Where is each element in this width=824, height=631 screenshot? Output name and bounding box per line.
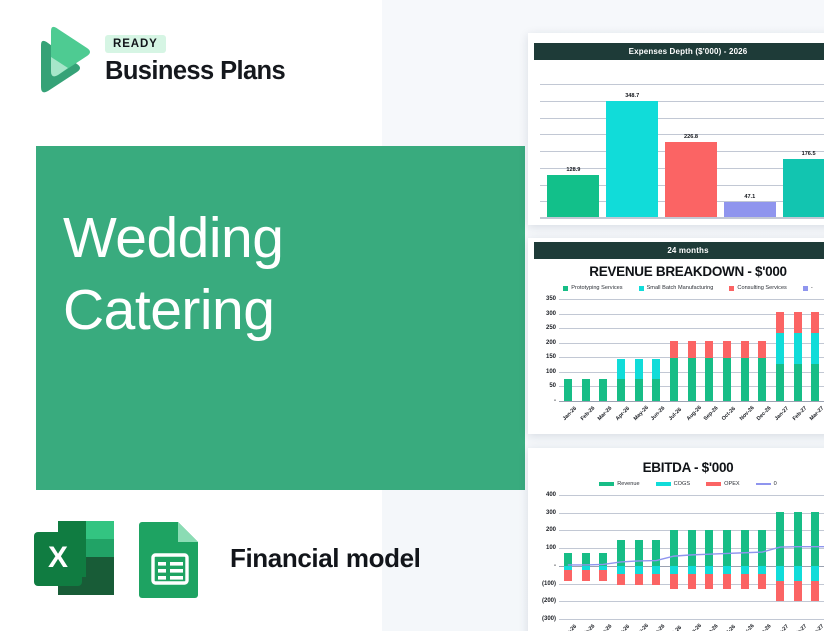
y-tick-label: 250 [546,325,556,331]
x-tick-label: Feb-26 [579,623,596,631]
x-tick-label: Oct-26 [721,406,737,422]
legend-swatch [599,482,614,486]
brand-text: READY Business Plans [105,35,285,85]
bar-segment [776,581,784,600]
x-tick-label: Mar-27 [809,405,824,422]
x-tick-label: Jan-26 [562,624,578,631]
stacked-bar-column [741,295,749,379]
bar-segment [617,379,625,401]
bar-segment [794,581,802,600]
revenue-legend: Prototyping ServicesSmall Batch Manufact… [528,285,824,291]
x-tick-label: Jun-26 [650,623,667,631]
bar [606,101,658,218]
bar-segment [670,574,678,588]
bar-segment [811,512,819,566]
legend-item: Consulting Services [729,285,786,291]
bar-segment [617,359,625,379]
google-sheets-icon [134,519,206,598]
bar-segment [776,512,784,566]
page-title: Wedding Catering [63,202,503,347]
stacked-bar-column [776,295,784,379]
bar-segment [776,333,784,364]
y-tick-label: 200 [546,340,556,346]
bar-value-label: 47.1 [744,194,755,200]
stacked-bar-column [723,295,731,379]
bar-segment [564,570,572,581]
stacked-bar-column [670,295,678,379]
bar-segment [564,379,572,401]
footer-label: Financial model [230,543,421,574]
bar-column: 176.5 [783,84,824,218]
stacked-bar-column [652,295,660,379]
legend-item: Small Batch Manufacturing [639,285,714,291]
bar-segment [723,566,731,575]
stacked-bar-column [723,491,731,597]
bar-segment [811,581,819,600]
bar-segment [811,364,819,401]
legend-swatch [756,483,771,485]
stacked-bar-column [794,491,802,597]
bar-segment [741,358,749,401]
bar-segment [635,566,643,574]
y-tick-label: (300) [542,616,556,622]
brand-lockup: READY Business Plans [31,25,285,95]
stacked-bar-column [617,491,625,597]
bar-segment [670,530,678,566]
bar-segment [723,574,731,588]
bar-segment [705,341,713,358]
stacked-bar-column [670,491,678,597]
stacked-bar-column [811,491,819,597]
legend-item: 0 [756,481,777,487]
bar-segment [652,359,660,379]
stacked-bar-column [564,295,572,379]
stacked-bar-column [811,295,819,379]
bar-value-label: 128.9 [566,167,580,173]
x-tick-label: Oct-26 [721,624,737,631]
bar-column: 128.9 [547,84,599,218]
bar-segment [635,359,643,379]
ready-badge: READY [105,35,166,53]
bar-segment [688,566,696,575]
y-tick-label: 50 [549,383,556,389]
bar-segment [705,566,713,575]
bar-segment [617,540,625,566]
expenses-chart-header: Expenses Depth ($'000) - 2026 [534,43,824,60]
x-tick-label: Aug-26 [685,623,702,631]
stacked-bar-column [617,295,625,379]
bar-segment [599,553,607,566]
chart-card-expenses: Expenses Depth ($'000) - 2026 128.9348.7… [528,33,824,225]
ebitda-stacked-plot: 400300200100-(100)(200)(300) Jan-26Feb-2… [532,491,824,631]
bar-column: 47.1 [724,84,776,218]
expenses-axis-line [540,217,824,218]
x-tick-label: May-26 [632,623,649,631]
bar-segment [758,341,766,358]
x-tick-label: Sep-26 [703,623,720,631]
x-tick-label: Dec-26 [756,405,773,422]
bar-segment [776,364,784,401]
x-tick-label: Jan-27 [774,624,790,631]
x-tick-label: Mar-26 [597,623,614,631]
brand-name: Business Plans [105,58,285,85]
x-tick-label: Feb-26 [579,405,596,422]
y-tick-label: (200) [542,598,556,604]
x-tick-label: Jul-26 [668,625,683,631]
ebitda-x-axis: Jan-26Feb-26Mar-26Apr-26May-26Jun-26Jul-… [559,619,824,631]
x-tick-label: Dec-26 [756,623,773,631]
y-tick-label: (100) [542,581,556,587]
bar-segment [794,512,802,566]
legend-swatch [563,286,568,291]
y-tick-label: - [554,563,556,569]
legend-swatch [639,286,644,291]
x-tick-label: Aug-26 [685,405,702,422]
bar-segment [741,566,749,575]
x-tick-label: Jul-26 [668,407,683,422]
bar-segment [723,358,731,401]
bar-segment [811,566,819,582]
revenue-chart-title: REVENUE BREAKDOWN - $'000 [528,264,824,279]
chart-card-ebitda: EBITDA - $'000 RevenueCOGSOPEX0 40030020… [528,448,824,631]
bar-value-label: 226.8 [684,134,698,140]
bar-segment [741,341,749,358]
bar-segment [652,379,660,401]
bar-segment [723,530,731,566]
bar-segment [617,566,625,574]
bar-segment [794,566,802,582]
bar-segment [599,570,607,581]
bar-segment [635,540,643,566]
stacked-bar-column [635,295,643,379]
stacked-bar-column [758,491,766,597]
bar-segment [758,574,766,588]
bar-segment [741,530,749,566]
stacked-bar-column [688,491,696,597]
y-tick-label: 100 [546,545,556,551]
bar-segment [652,540,660,566]
bar-segment [652,574,660,585]
x-tick-label: May-26 [632,405,649,422]
bar-segment [635,379,643,401]
y-tick-label: 300 [546,311,556,317]
bar-segment [811,333,819,364]
y-tick-label: 150 [546,354,556,360]
bar-segment [705,530,713,566]
bar-segment [794,364,802,401]
bar-segment [617,574,625,585]
legend-label: OPEX [724,481,740,487]
bar [724,202,776,218]
revenue-stacked-plot: 35030025020015010050- Jan-26Feb-26Mar-26… [532,295,824,423]
expenses-bar-plot: 128.9348.7226.847.1176.5 [534,70,824,224]
stacked-bar-column [688,295,696,379]
revenue-y-axis: 35030025020015010050- [532,295,558,423]
ebitda-chart-title: EBITDA - $'000 [528,460,824,475]
legend-label: - [811,285,813,291]
ebitda-bar-area [559,491,824,619]
legend-swatch [803,286,808,291]
stacked-bar-column [582,491,590,597]
ebitda-y-axis: 400300200100-(100)(200)(300) [532,491,558,631]
y-tick-label: 100 [546,369,556,375]
x-tick-label: Mar-26 [597,405,614,422]
legend-swatch [729,286,734,291]
bar-segment [582,379,590,401]
bar-segment [705,358,713,401]
bar-segment [670,341,678,358]
legend-swatch [706,482,721,486]
legend-item: Revenue [599,481,639,487]
poster-canvas: READY Business Plans Wedding Catering X [0,0,824,631]
excel-file-icon: X [32,519,116,598]
bar-value-label: 176.5 [802,151,816,157]
chart-card-revenue: 24 months REVENUE BREAKDOWN - $'000 Prot… [528,238,824,434]
bar-segment [758,530,766,566]
bar-segment [776,312,784,333]
bar-segment [688,341,696,358]
stacked-bar-column [564,491,572,597]
x-tick-label: Nov-26 [738,405,755,422]
gridline [540,218,824,219]
stacked-bar-column [741,491,749,597]
stacked-bar-column [582,295,590,379]
bar-segment [776,566,784,582]
legend-item: Prototyping Services [563,285,622,291]
y-tick-label: - [554,398,556,404]
svg-text:X: X [48,541,68,574]
x-tick-label: Jan-26 [562,406,578,422]
bar-segment [723,341,731,358]
legend-item: OPEX [706,481,740,487]
x-tick-label: Apr-26 [615,624,631,631]
stacked-bar-column [776,491,784,597]
bar-segment [688,530,696,566]
bar-column: 348.7 [606,84,658,218]
x-tick-label: Sep-26 [703,405,720,422]
bar-segment [652,566,660,574]
bar-column: 226.8 [665,84,717,218]
footer-row: X Financial model [32,519,421,598]
bar-segment [758,358,766,401]
expenses-bars: 128.9348.7226.847.1176.5 [544,84,824,218]
x-tick-label: Apr-26 [615,406,631,422]
y-tick-label: 350 [546,296,556,302]
x-tick-label: Feb-27 [792,623,809,631]
bar-segment [599,379,607,401]
x-tick-label: Nov-26 [738,623,755,631]
bar-segment [582,553,590,566]
bar [665,142,717,218]
bar-segment [670,566,678,575]
bar-segment [582,570,590,581]
y-tick-label: 400 [546,492,556,498]
stacked-bar-column [794,295,802,379]
revenue-bar-area [559,295,824,401]
stacked-bar-column [705,491,713,597]
stacked-bar-column [652,491,660,597]
bar-segment [794,312,802,333]
bar-segment [705,574,713,588]
legend-item: - [803,285,813,291]
bar-segment [670,358,678,401]
legend-label: Consulting Services [737,285,786,291]
legend-label: 0 [774,481,777,487]
stacked-bar-column [599,491,607,597]
stacked-bar-column [635,491,643,597]
bar-segment [758,566,766,575]
x-tick-label: Feb-27 [792,405,809,422]
y-tick-label: 300 [546,510,556,516]
bar-segment [741,574,749,588]
stacked-bar-column [705,295,713,379]
stacked-bar-column [758,295,766,379]
bar-segment [564,553,572,566]
ebitda-legend: RevenueCOGSOPEX0 [528,481,824,487]
hero-panel: Wedding Catering [36,146,525,490]
bar-segment [811,312,819,333]
revenue-chart-header: 24 months [534,242,824,259]
bar-segment [688,574,696,588]
bar-segment [794,333,802,364]
bar [783,159,824,218]
legend-item: COGS [656,481,690,487]
x-tick-label: Mar-27 [809,623,824,631]
bar-segment [635,574,643,585]
legend-label: COGS [674,481,690,487]
bar [547,175,599,218]
bar-segment [688,358,696,401]
stacked-bar-column [599,295,607,379]
legend-label: Prototyping Services [571,285,622,291]
x-tick-label: Jan-27 [774,406,790,422]
bar-value-label: 348.7 [625,93,639,99]
legend-label: Revenue [617,481,639,487]
play-logo-icon [31,25,91,95]
revenue-x-axis: Jan-26Feb-26Mar-26Apr-26May-26Jun-26Jul-… [559,401,824,423]
legend-label: Small Batch Manufacturing [647,285,714,291]
x-tick-label: Jun-26 [650,405,667,422]
y-tick-label: 200 [546,527,556,533]
legend-swatch [656,482,671,486]
